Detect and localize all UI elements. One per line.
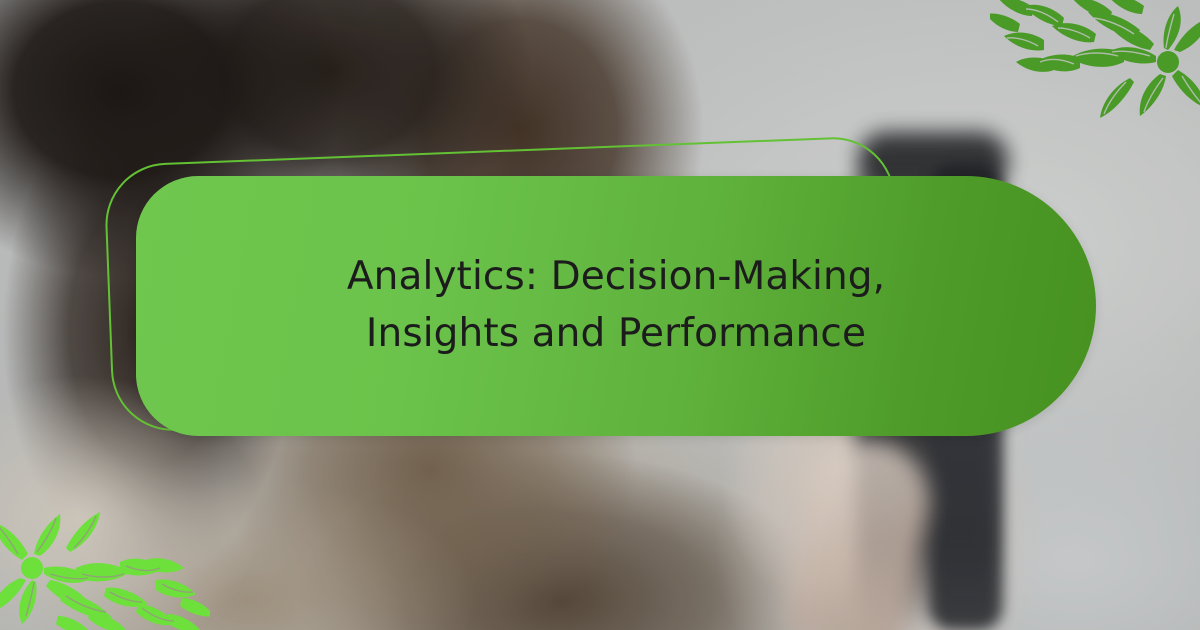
corner-ornament-bottom-left (0, 500, 210, 630)
banner-title: Analytics: Decision-Making, Insights and… (266, 249, 966, 362)
banner-stage: Analytics: Decision-Making, Insights and… (0, 0, 1200, 630)
corner-ornament-top-right (990, 0, 1200, 130)
banner-panel: Analytics: Decision-Making, Insights and… (136, 176, 1096, 436)
